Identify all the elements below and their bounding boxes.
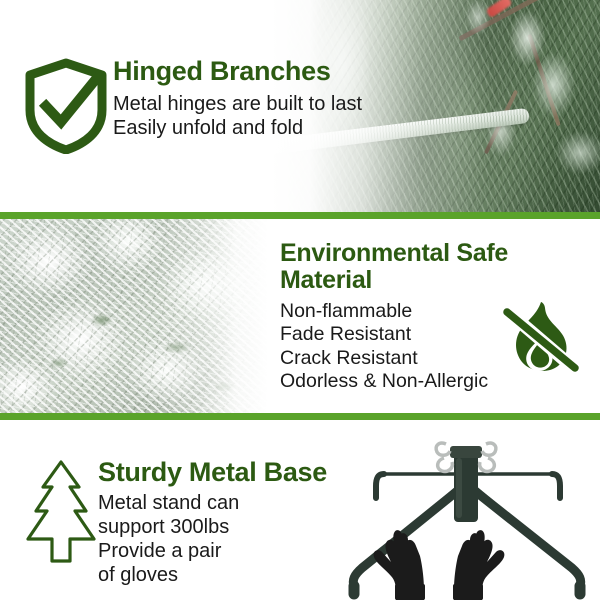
hinged-branches-text-block: Hinged Branches Metal hinges are built t… (113, 57, 362, 140)
section-divider-bar (0, 212, 600, 219)
shield-check-icon (22, 58, 110, 154)
sturdy-metal-base-text-block: Sturdy Metal Base Metal stand can suppor… (98, 458, 327, 587)
hinged-branches-body: Metal hinges are built to last Easily un… (113, 92, 362, 140)
section-divider-bar (0, 413, 600, 420)
environmental-heading: Environmental Safe Material (280, 240, 600, 294)
snow-flocked-tree-photo (0, 218, 268, 414)
photo-white-fade (0, 218, 268, 414)
sturdy-metal-base-body: Metal stand can support 300lbs Provide a… (98, 491, 327, 587)
product-feature-infographic: Hinged Branches Metal hinges are built t… (0, 0, 600, 600)
section-hinged-branches: Hinged Branches Metal hinges are built t… (0, 0, 600, 212)
hinged-branches-heading: Hinged Branches (113, 57, 362, 86)
metal-tree-stand-with-gloves-photo (338, 428, 596, 600)
christmas-tree-outline-icon (22, 457, 100, 571)
no-flame-icon (500, 294, 582, 382)
sturdy-metal-base-heading: Sturdy Metal Base (98, 458, 327, 487)
